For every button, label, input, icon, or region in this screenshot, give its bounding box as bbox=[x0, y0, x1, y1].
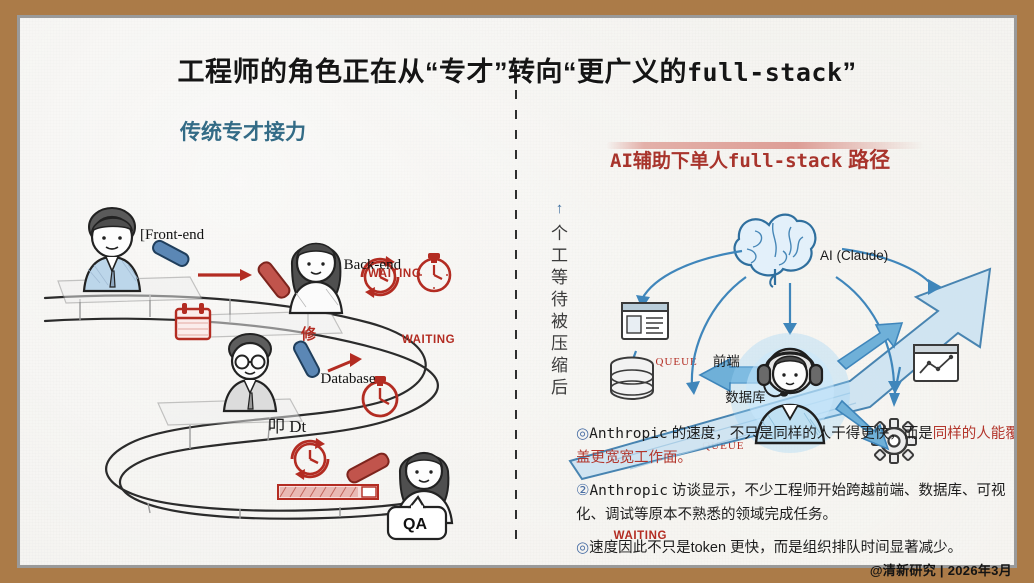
left-illustration: [Front-end Back-end Database WAITING WAI… bbox=[20, 78, 1014, 96]
slide-canvas: 工程师的角色正在从“专才”转向“更广义的full-stack” 传统专才接力 A… bbox=[20, 18, 1014, 565]
right-illustration: AI (Claude) 前端 数据库 可视化 调试 部署 bbox=[20, 96, 1014, 117]
right-header-underline bbox=[606, 142, 924, 149]
bullet-item-2: ②Anthropic 访谈显示，不少工程师开始跨越前端、数据库、可视化、调试等原… bbox=[552, 479, 1014, 527]
chart-icon bbox=[914, 345, 958, 381]
person-database bbox=[224, 334, 276, 411]
bullet-3-text2: token 更快，而是组织排队时间显著减少。 bbox=[691, 540, 963, 556]
baton-blue-2 bbox=[292, 339, 321, 379]
browser-icon bbox=[622, 303, 668, 339]
label-frontend: [Front-end bbox=[140, 227, 204, 243]
right-bullet-list: ◎Anthropic 的速度，不只是同样的人干得更快，而是同样的人能覆盖更宽宽工… bbox=[552, 422, 1014, 565]
person-frontend bbox=[84, 208, 140, 291]
waiting-label-2: WAITING bbox=[402, 334, 455, 346]
waiting-label-1: WAITING bbox=[368, 268, 421, 280]
ai-label: AI (Claude) bbox=[820, 248, 888, 263]
bullet-item-1: ◎Anthropic 的速度，不只是同样的人干得更快，而是同样的人能覆盖更宽宽工… bbox=[552, 422, 1014, 470]
bullet-mark-1: ◎ bbox=[576, 425, 589, 442]
person-backend bbox=[290, 244, 342, 314]
baton-red-1 bbox=[256, 260, 292, 300]
bullet-1-text: 的速度，不只是同样的人干得更快，而是 bbox=[668, 426, 933, 442]
bullet-item-3: ◎速度因此不只是token 更快，而是组织排队时间显著减少。 bbox=[552, 536, 1014, 560]
bullet-3-text: 速度因此不只是 bbox=[589, 540, 691, 556]
node-label-frontend: 前端 bbox=[713, 354, 740, 369]
database-icon bbox=[611, 358, 653, 400]
calendar-icon bbox=[176, 303, 210, 339]
label-qa: QA bbox=[403, 516, 427, 534]
footer-signature: @清新研究 | 2026年3月 bbox=[870, 560, 1012, 579]
right-header-mono: AI辅助下单人full-stack bbox=[610, 150, 842, 172]
cycle-clock-icon-2 bbox=[292, 438, 328, 480]
label-fix: 修 bbox=[301, 323, 316, 344]
center-divider bbox=[515, 90, 517, 545]
bullet-1-mono: Anthropic bbox=[589, 426, 668, 442]
stopwatch-icon bbox=[418, 253, 450, 291]
progress-bar bbox=[278, 485, 378, 499]
baton-blue bbox=[151, 239, 191, 268]
label-dt: 叩 Dt bbox=[268, 412, 306, 437]
node-label-database: 数据库 bbox=[725, 390, 766, 405]
bullet-2-mono: Anthropic bbox=[589, 483, 668, 499]
brain-icon bbox=[735, 215, 816, 287]
baton-red-2 bbox=[345, 451, 390, 484]
right-header-cn: 路径 bbox=[842, 149, 890, 172]
label-database: Database bbox=[321, 371, 376, 387]
bullet-mark-2: ② bbox=[576, 482, 589, 499]
bullet-mark-3: ◎ bbox=[576, 539, 589, 556]
